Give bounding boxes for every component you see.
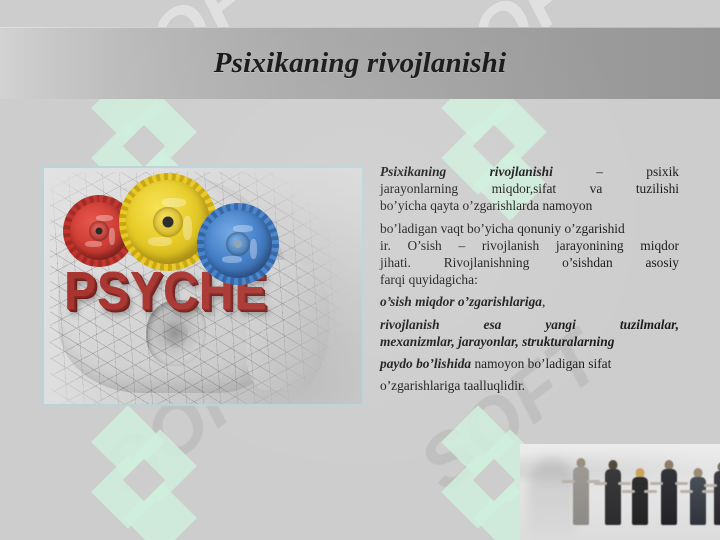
body-line-tail: ,: [542, 294, 545, 309]
page-title: Psixikaning rivojlanishi: [0, 27, 720, 99]
illustration-canvas: PSYCHE: [44, 168, 362, 404]
slide-body-text: Psixikaning rivojlanishi – psixik jarayo…: [380, 163, 679, 394]
watermark-logo-mark: [96, 410, 192, 540]
presentation-slide: SOFT SOFT SOFT SOFT Psixikaning rivojlan…: [0, 0, 720, 540]
body-line: jarayonlarning miqdor,sifat va tuzilishi: [380, 180, 679, 197]
body-line: mexanizmlar, jarayonlar, strukturalarnin…: [380, 333, 679, 350]
body-line: ir. O’sish – rivojlanish jarayonining mi…: [380, 237, 679, 254]
person-figure: [660, 460, 678, 536]
body-bold-term: rivojlanish esa yangi tuzilmalar,: [380, 317, 679, 332]
body-line: o’sish miqdor o’zgarishlariga,: [380, 293, 679, 310]
person-figure: [604, 460, 621, 536]
person-figure: [632, 468, 647, 536]
body-bold-term: mexanizmlar, jarayonlar, strukturalarnin…: [380, 334, 614, 349]
body-bold-term: paydo bo’lishida: [380, 356, 471, 371]
blurred-figure: [528, 460, 576, 534]
body-line: o’zgarishlariga taalluqlidir.: [380, 377, 679, 394]
body-line: Psixikaning rivojlanishi – psixik: [380, 163, 679, 180]
body-bold-term: rivojlanishi: [490, 164, 553, 179]
body-bold-term: Psixikaning: [380, 164, 446, 179]
body-bold-term: o’sish miqdor o’zgarishlariga: [380, 294, 542, 309]
body-line: bo’ladigan vaqt bo’yicha qonuniy o’zgari…: [380, 220, 679, 237]
title-banner: Psixikaning rivojlanishi: [0, 27, 720, 99]
body-line: jihati. Rivojlanishning o’sishdan asosiy: [380, 254, 679, 271]
body-line: paydo bo’lishida namoyon bo’ladigan sifa…: [380, 355, 679, 372]
person-figure: [714, 462, 720, 536]
body-line-tail: – psixik: [596, 164, 679, 179]
psyche-word-icon: PSYCHE: [64, 261, 332, 323]
blue-gear-icon: [204, 210, 272, 278]
body-line: rivojlanish esa yangi tuzilmalar,: [380, 316, 679, 333]
person-figure: [690, 468, 705, 536]
business-people-photo: [520, 444, 720, 540]
person-figure: [572, 458, 590, 536]
body-line: bo’yicha qayta o’zgarishlarda namoyon: [380, 197, 679, 214]
body-line: farqi quyidagicha:: [380, 271, 679, 288]
psyche-illustration: PSYCHE: [42, 166, 364, 406]
body-line-tail: namoyon bo’ladigan sifat: [471, 356, 611, 371]
